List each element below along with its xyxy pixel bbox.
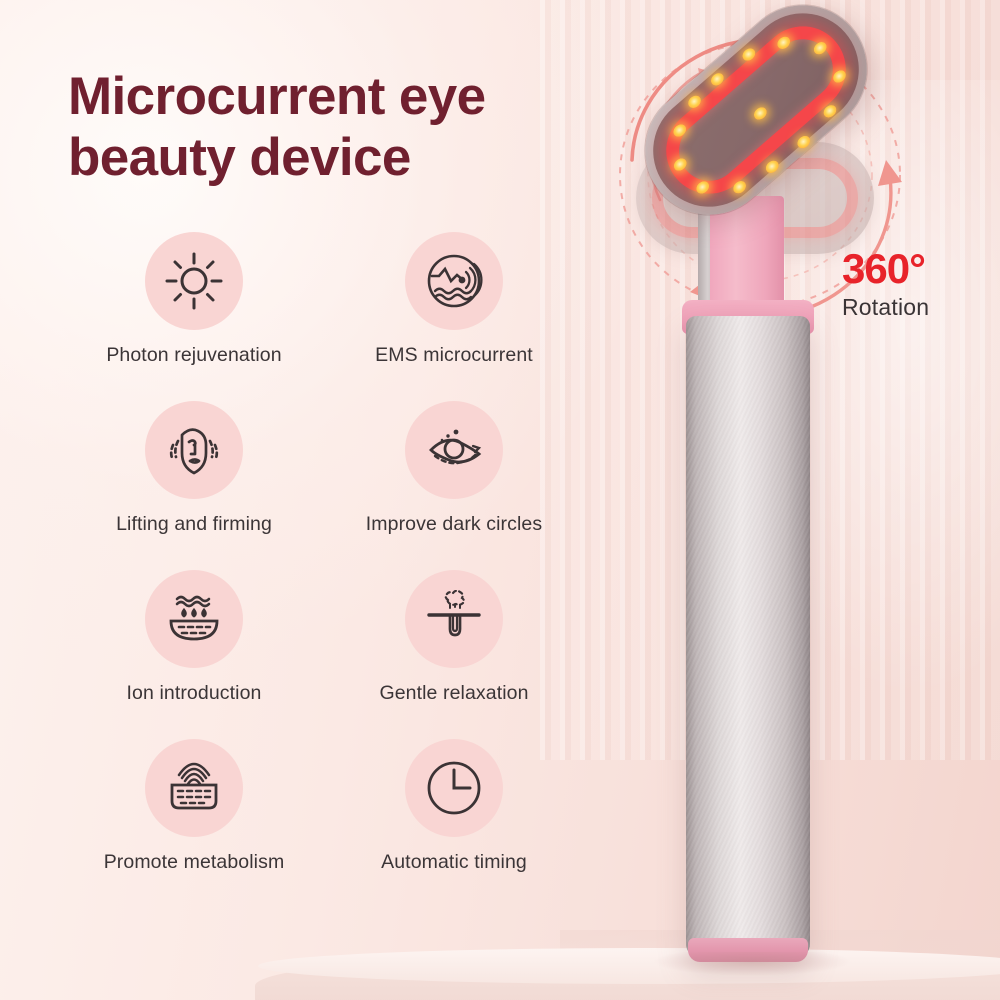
feature-label: Gentle relaxation — [379, 682, 528, 705]
feature-row: Photon rejuvenation — [64, 232, 584, 367]
rotation-callout: 360° Rotation — [842, 248, 929, 321]
icon-badge — [405, 739, 503, 837]
feature-label: EMS microcurrent — [375, 344, 533, 367]
feature-item-ion-introduction[interactable]: Ion introduction — [64, 570, 324, 705]
product-handle — [686, 316, 810, 958]
water-droplets-icon — [163, 590, 225, 648]
feature-row: Ion introduction — [64, 570, 584, 705]
clock-icon — [424, 758, 484, 818]
icon-badge — [145, 739, 243, 837]
feature-label: Promote metabolism — [104, 851, 285, 874]
icon-badge — [145, 401, 243, 499]
skin-layers-icon — [163, 759, 225, 817]
feature-item-ems-microcurrent[interactable]: EMS microcurrent — [324, 232, 584, 367]
sun-icon — [165, 252, 223, 310]
face-profile-icon — [165, 421, 223, 479]
product-neck — [710, 196, 784, 316]
feature-label: Photon rejuvenation — [106, 344, 281, 367]
page-title: Microcurrent eye beauty device — [68, 66, 628, 189]
feature-label: Lifting and firming — [116, 513, 272, 536]
feature-item-gentle-relaxation[interactable]: Gentle relaxation — [324, 570, 584, 705]
feature-row: Lifting and firming — [64, 401, 584, 536]
icon-badge — [405, 232, 503, 330]
feature-label: Improve dark circles — [366, 513, 542, 536]
feature-item-promote-metabolism[interactable]: Promote metabolism — [64, 739, 324, 874]
feature-label: Automatic timing — [381, 851, 527, 874]
rotation-label: Rotation — [842, 294, 929, 321]
feature-row: Promote metabolism Automatic timing — [64, 739, 584, 874]
product-image: 360° Rotation — [590, 0, 1000, 1000]
feature-item-lifting-and-firming[interactable]: Lifting and firming — [64, 401, 324, 536]
icon-badge — [145, 232, 243, 330]
feature-item-improve-dark-circles[interactable]: Improve dark circles — [324, 401, 584, 536]
feature-item-automatic-timing[interactable]: Automatic timing — [324, 739, 584, 874]
icon-badge — [405, 401, 503, 499]
eye-icon — [423, 422, 485, 478]
feature-list: Photon rejuvenation — [64, 232, 584, 908]
feature-label: Ion introduction — [127, 682, 262, 705]
feature-item-photon-rejuvenation[interactable]: Photon rejuvenation — [64, 232, 324, 367]
wave-signal-icon — [424, 251, 484, 311]
handle-texture — [686, 316, 810, 958]
icon-badge — [145, 570, 243, 668]
pore-follicle-icon — [424, 590, 484, 648]
rotation-degrees: 360° — [842, 248, 929, 290]
product-drop-shadow — [652, 952, 852, 976]
icon-badge — [405, 570, 503, 668]
led-dot — [763, 158, 781, 175]
product-marketing-image: Microcurrent eye beauty device — [0, 0, 1000, 1000]
